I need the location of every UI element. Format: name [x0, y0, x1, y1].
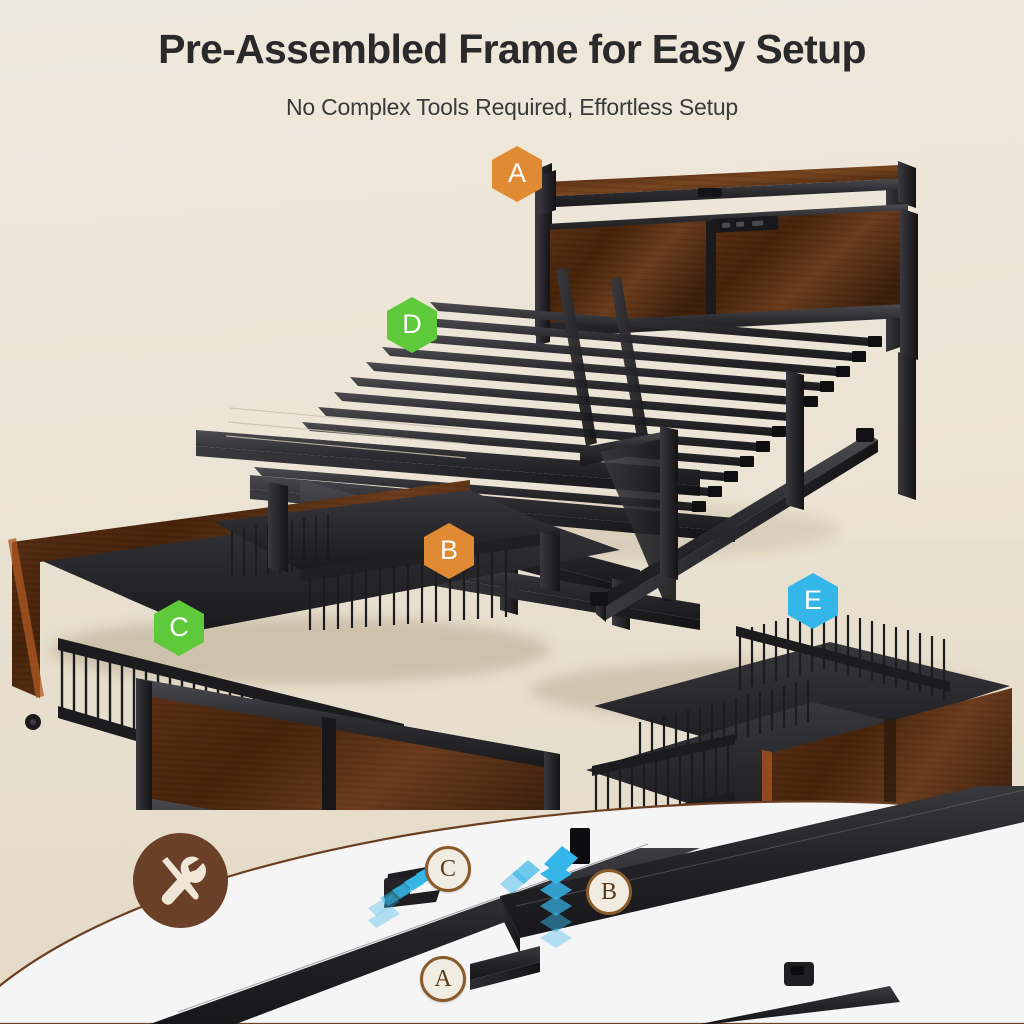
callout-badge-c-label: C	[169, 614, 189, 641]
foot-end-storage-drawers	[586, 609, 1012, 810]
inset-callout-c-label: C	[440, 857, 456, 881]
inset-callout-b[interactable]: B	[586, 869, 632, 915]
scene: Pre-Assembled Frame for Easy Setup No Co…	[0, 0, 1024, 1024]
page-subtitle: No Complex Tools Required, Effortless Se…	[0, 94, 1024, 121]
product-illustration	[0, 130, 1024, 810]
callout-badge-e-label: E	[804, 587, 822, 614]
inset-callout-b-label: B	[601, 880, 617, 904]
callout-badge-d-label: D	[402, 311, 422, 338]
inset-callout-a[interactable]: A	[420, 956, 466, 1002]
callout-badge-b-label: B	[440, 537, 458, 564]
inset-callout-c[interactable]: C	[425, 846, 471, 892]
bed-frame-render	[0, 130, 1024, 810]
page-title: Pre-Assembled Frame for Easy Setup	[0, 26, 1024, 73]
screwdriver-wrench-icon	[133, 833, 228, 928]
assembly-detail-inset	[0, 786, 1024, 1024]
inset-callout-a-label: A	[434, 967, 451, 991]
callout-badge-a-label: A	[508, 160, 526, 187]
tool-glyph	[150, 850, 212, 912]
